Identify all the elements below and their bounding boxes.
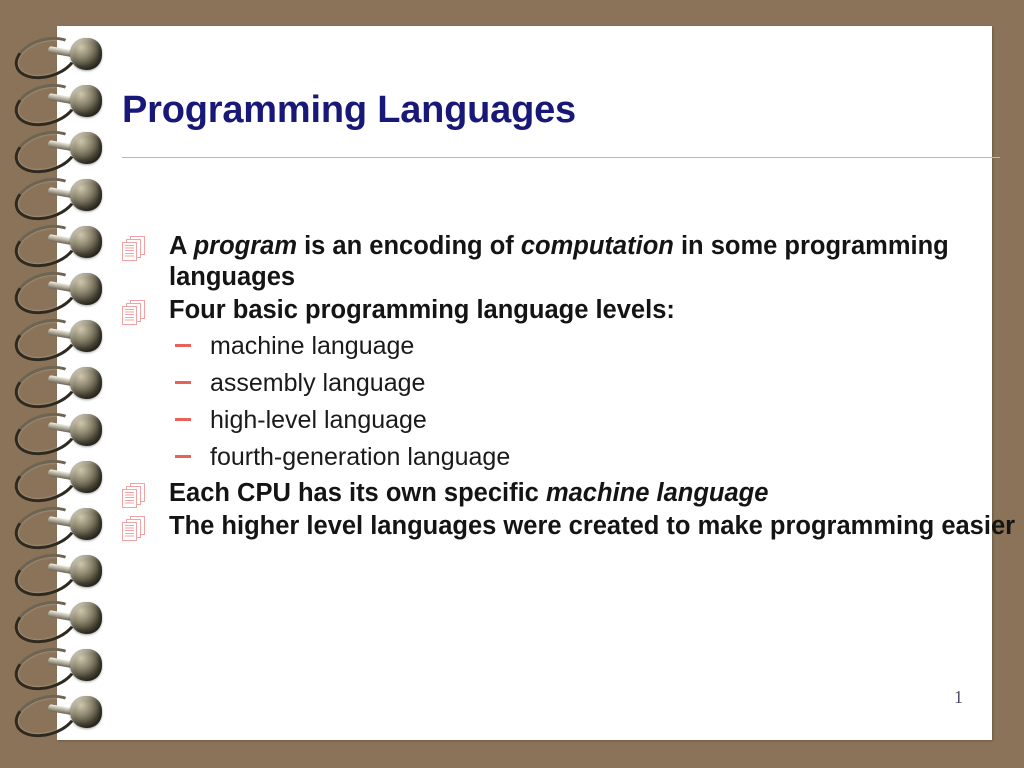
en-dash-icon [175, 344, 191, 347]
bullet-item: Each CPU has its own specific machine la… [122, 478, 1022, 509]
pages-stack-icon [122, 236, 148, 262]
bullet-text: The higher level languages were created … [169, 512, 1015, 540]
pages-stack-glyph [122, 236, 148, 262]
title-divider [122, 157, 1000, 158]
sub-bullet-text: high-level language [210, 406, 427, 434]
pages-stack-icon [122, 300, 148, 326]
sub-bullet-item: fourth-generation language [169, 441, 1022, 473]
page-number: 1 [954, 687, 963, 708]
bullet-item: The higher level languages were created … [122, 511, 1022, 542]
bullet-item: Four basic programming language levels:m… [122, 295, 1022, 473]
bullet-text-run: A [169, 232, 194, 260]
pages-stack-glyph [122, 483, 148, 509]
pages-stack-glyph [122, 300, 148, 326]
page-sheet [122, 489, 137, 508]
page-sheet [122, 306, 137, 325]
slide-body: A program is an encoding of computation … [122, 231, 1022, 545]
pages-stack-icon [122, 483, 148, 509]
sub-bullet-text: fourth-generation language [210, 443, 510, 471]
bullet-text-run: Four basic programming language levels: [169, 296, 675, 324]
page-sheet [122, 242, 137, 261]
bullet-item: A program is an encoding of computation … [122, 231, 1022, 293]
bullet-text: Each CPU has its own specific machine la… [169, 479, 768, 507]
sub-bullet-item: machine language [169, 330, 1022, 362]
emphasised-term: computation [521, 232, 674, 260]
emphasised-term: machine language [546, 479, 768, 507]
en-dash-icon [175, 455, 191, 458]
page-title: Programming Languages [122, 90, 992, 132]
emphasised-term: program [194, 232, 297, 260]
bullet-text: A program is an encoding of computation … [169, 232, 949, 291]
pages-stack-glyph [122, 516, 148, 542]
bullet-list: A program is an encoding of computation … [122, 231, 1022, 543]
bullet-text-run: is an encoding of [297, 232, 521, 260]
sub-bullet-item: high-level language [169, 404, 1022, 436]
notebook-page: Programming Languages A program is an en… [57, 26, 992, 740]
sub-bullet-text: assembly language [210, 369, 425, 397]
sub-bullet-list: machine languageassembly languagehigh-le… [169, 330, 1022, 473]
bullet-text-run: Each CPU has its own specific [169, 479, 546, 507]
title-block: Programming Languages [122, 90, 992, 158]
pages-stack-icon [122, 516, 148, 542]
bullet-text-run: The higher level languages were created … [169, 512, 1015, 540]
en-dash-icon [175, 381, 191, 384]
en-dash-icon [175, 418, 191, 421]
page-sheet [122, 522, 137, 541]
sub-bullet-text: machine language [210, 332, 414, 360]
sub-bullet-item: assembly language [169, 367, 1022, 399]
bullet-text: Four basic programming language levels: [169, 296, 675, 324]
